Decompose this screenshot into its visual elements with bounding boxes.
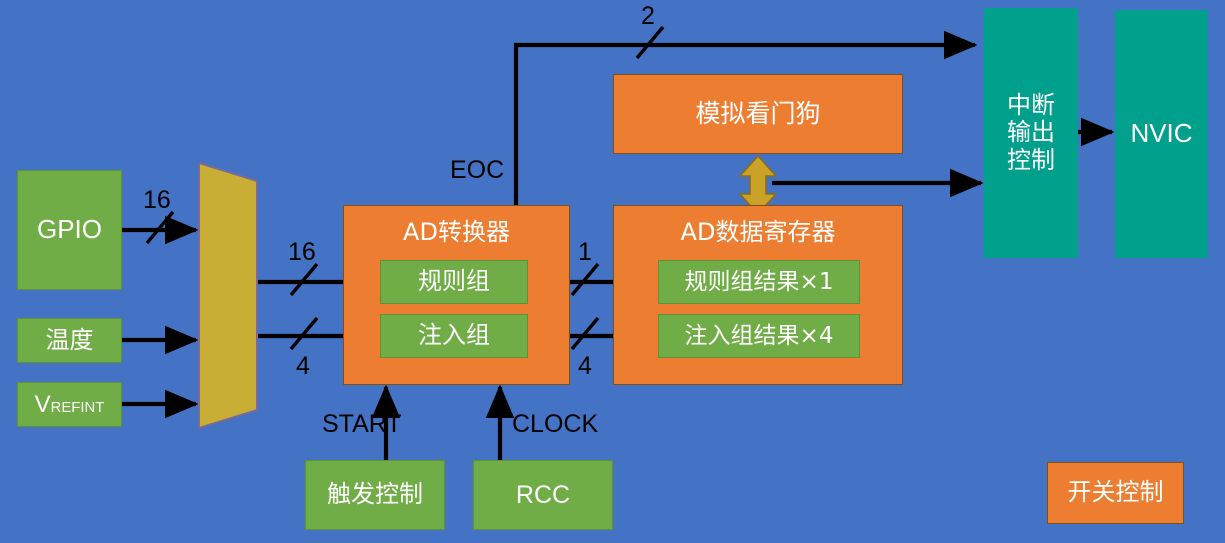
gpio-label: GPIO	[37, 215, 102, 245]
bus-tick-adc-regular	[572, 264, 598, 295]
trigger-control-label: 触发控制	[327, 481, 423, 509]
label-adc-injected-bus-width: 4	[578, 352, 592, 381]
label-interrupt-bus-width: 2	[641, 2, 655, 31]
nvic-block[interactable]: NVIC	[1115, 10, 1208, 258]
label-adc-regular-bus-width: 1	[578, 238, 592, 267]
vrefint-block[interactable]: VREFINT	[17, 382, 122, 427]
gpio-block[interactable]: GPIO	[17, 170, 122, 290]
label-start: START	[322, 410, 402, 439]
rcc-block[interactable]: RCC	[473, 460, 613, 530]
bus-tick-eoc	[637, 27, 663, 58]
label-clock: CLOCK	[512, 410, 598, 439]
vrefint-label: V	[35, 391, 51, 418]
regular-group-block[interactable]: 规则组	[380, 260, 528, 304]
injected-result-label: 注入组结果×4	[685, 323, 834, 349]
switch-control-label: 开关控制	[1068, 479, 1164, 507]
bus-tick-gpio	[147, 212, 173, 243]
injected-group-label: 注入组	[418, 322, 490, 350]
injected-result-block[interactable]: 注入组结果×4	[658, 314, 860, 358]
rcc-label: RCC	[516, 481, 570, 510]
label-mux-injected-bus-width: 4	[296, 352, 310, 381]
trigger-control-block[interactable]: 触发控制	[305, 460, 445, 530]
label-gpio-bus-width: 16	[143, 186, 171, 215]
label-eoc: EOC	[450, 156, 504, 185]
label-mux-regular-bus-width: 16	[288, 238, 316, 267]
bus-tick-mux-injected	[291, 318, 317, 349]
interrupt-output-control-label: 中断 输出 控制	[1007, 92, 1055, 175]
ad-converter-title: AD转换器	[403, 219, 510, 247]
bus-tick-adc-injected	[572, 318, 598, 349]
nvic-label: NVIC	[1130, 119, 1192, 149]
injected-group-block[interactable]: 注入组	[380, 314, 528, 358]
regular-group-label: 规则组	[418, 268, 490, 296]
ad-data-register-title: AD数据寄存器	[681, 219, 836, 247]
bus-tick-mux-regular	[291, 264, 317, 295]
adc-block-diagram: GPIO 温度 VREFINT AD转换器 规则组 注入组 AD数据寄存器 规则…	[0, 0, 1225, 543]
analog-watchdog-block[interactable]: 模拟看门狗	[613, 74, 903, 154]
temperature-label: 温度	[46, 327, 94, 355]
regular-result-label: 规则组结果×1	[685, 269, 834, 295]
analog-mux	[199, 163, 257, 428]
interrupt-output-control-block[interactable]: 中断 输出 控制	[984, 8, 1078, 258]
switch-control-block[interactable]: 开关控制	[1047, 462, 1184, 524]
analog-watchdog-label: 模拟看门狗	[695, 100, 820, 129]
vrefint-subscript: REFINT	[51, 400, 105, 416]
temperature-sensor-block[interactable]: 温度	[17, 318, 122, 363]
regular-result-block[interactable]: 规则组结果×1	[658, 260, 860, 304]
